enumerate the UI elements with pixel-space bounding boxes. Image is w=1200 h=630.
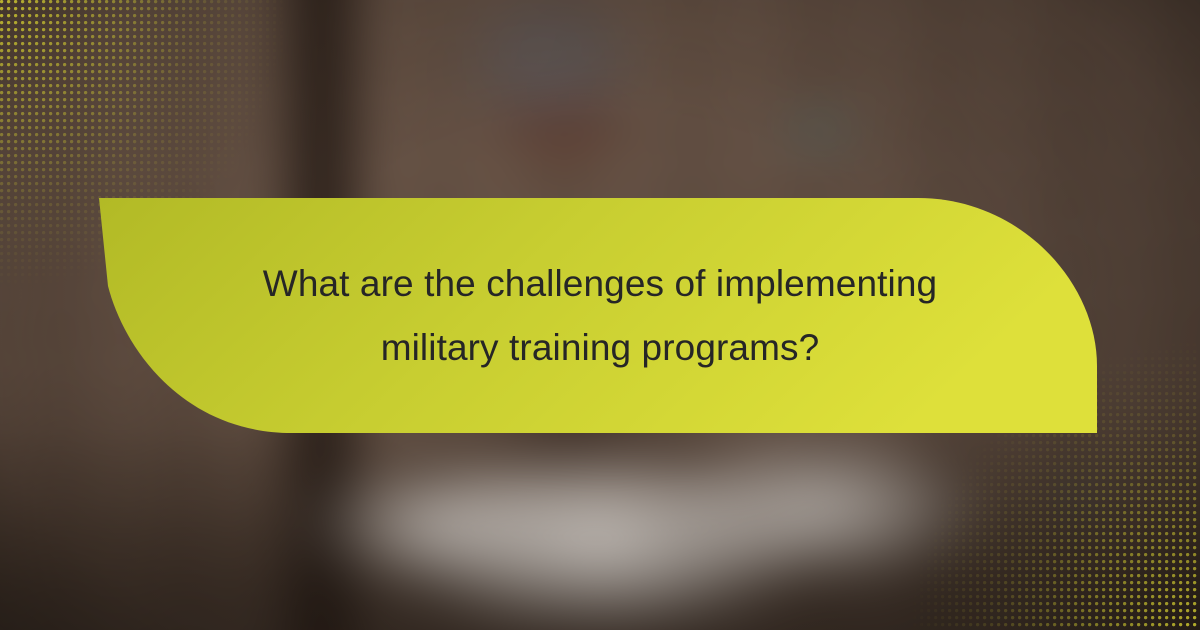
question-card-canvas: What are the challenges of implementing … (0, 0, 1200, 630)
question-line-2: military training programs? (381, 316, 820, 380)
question-line-1: What are the challenges of implementing (263, 252, 937, 316)
question-text-block: What are the challenges of implementing … (150, 198, 1050, 434)
